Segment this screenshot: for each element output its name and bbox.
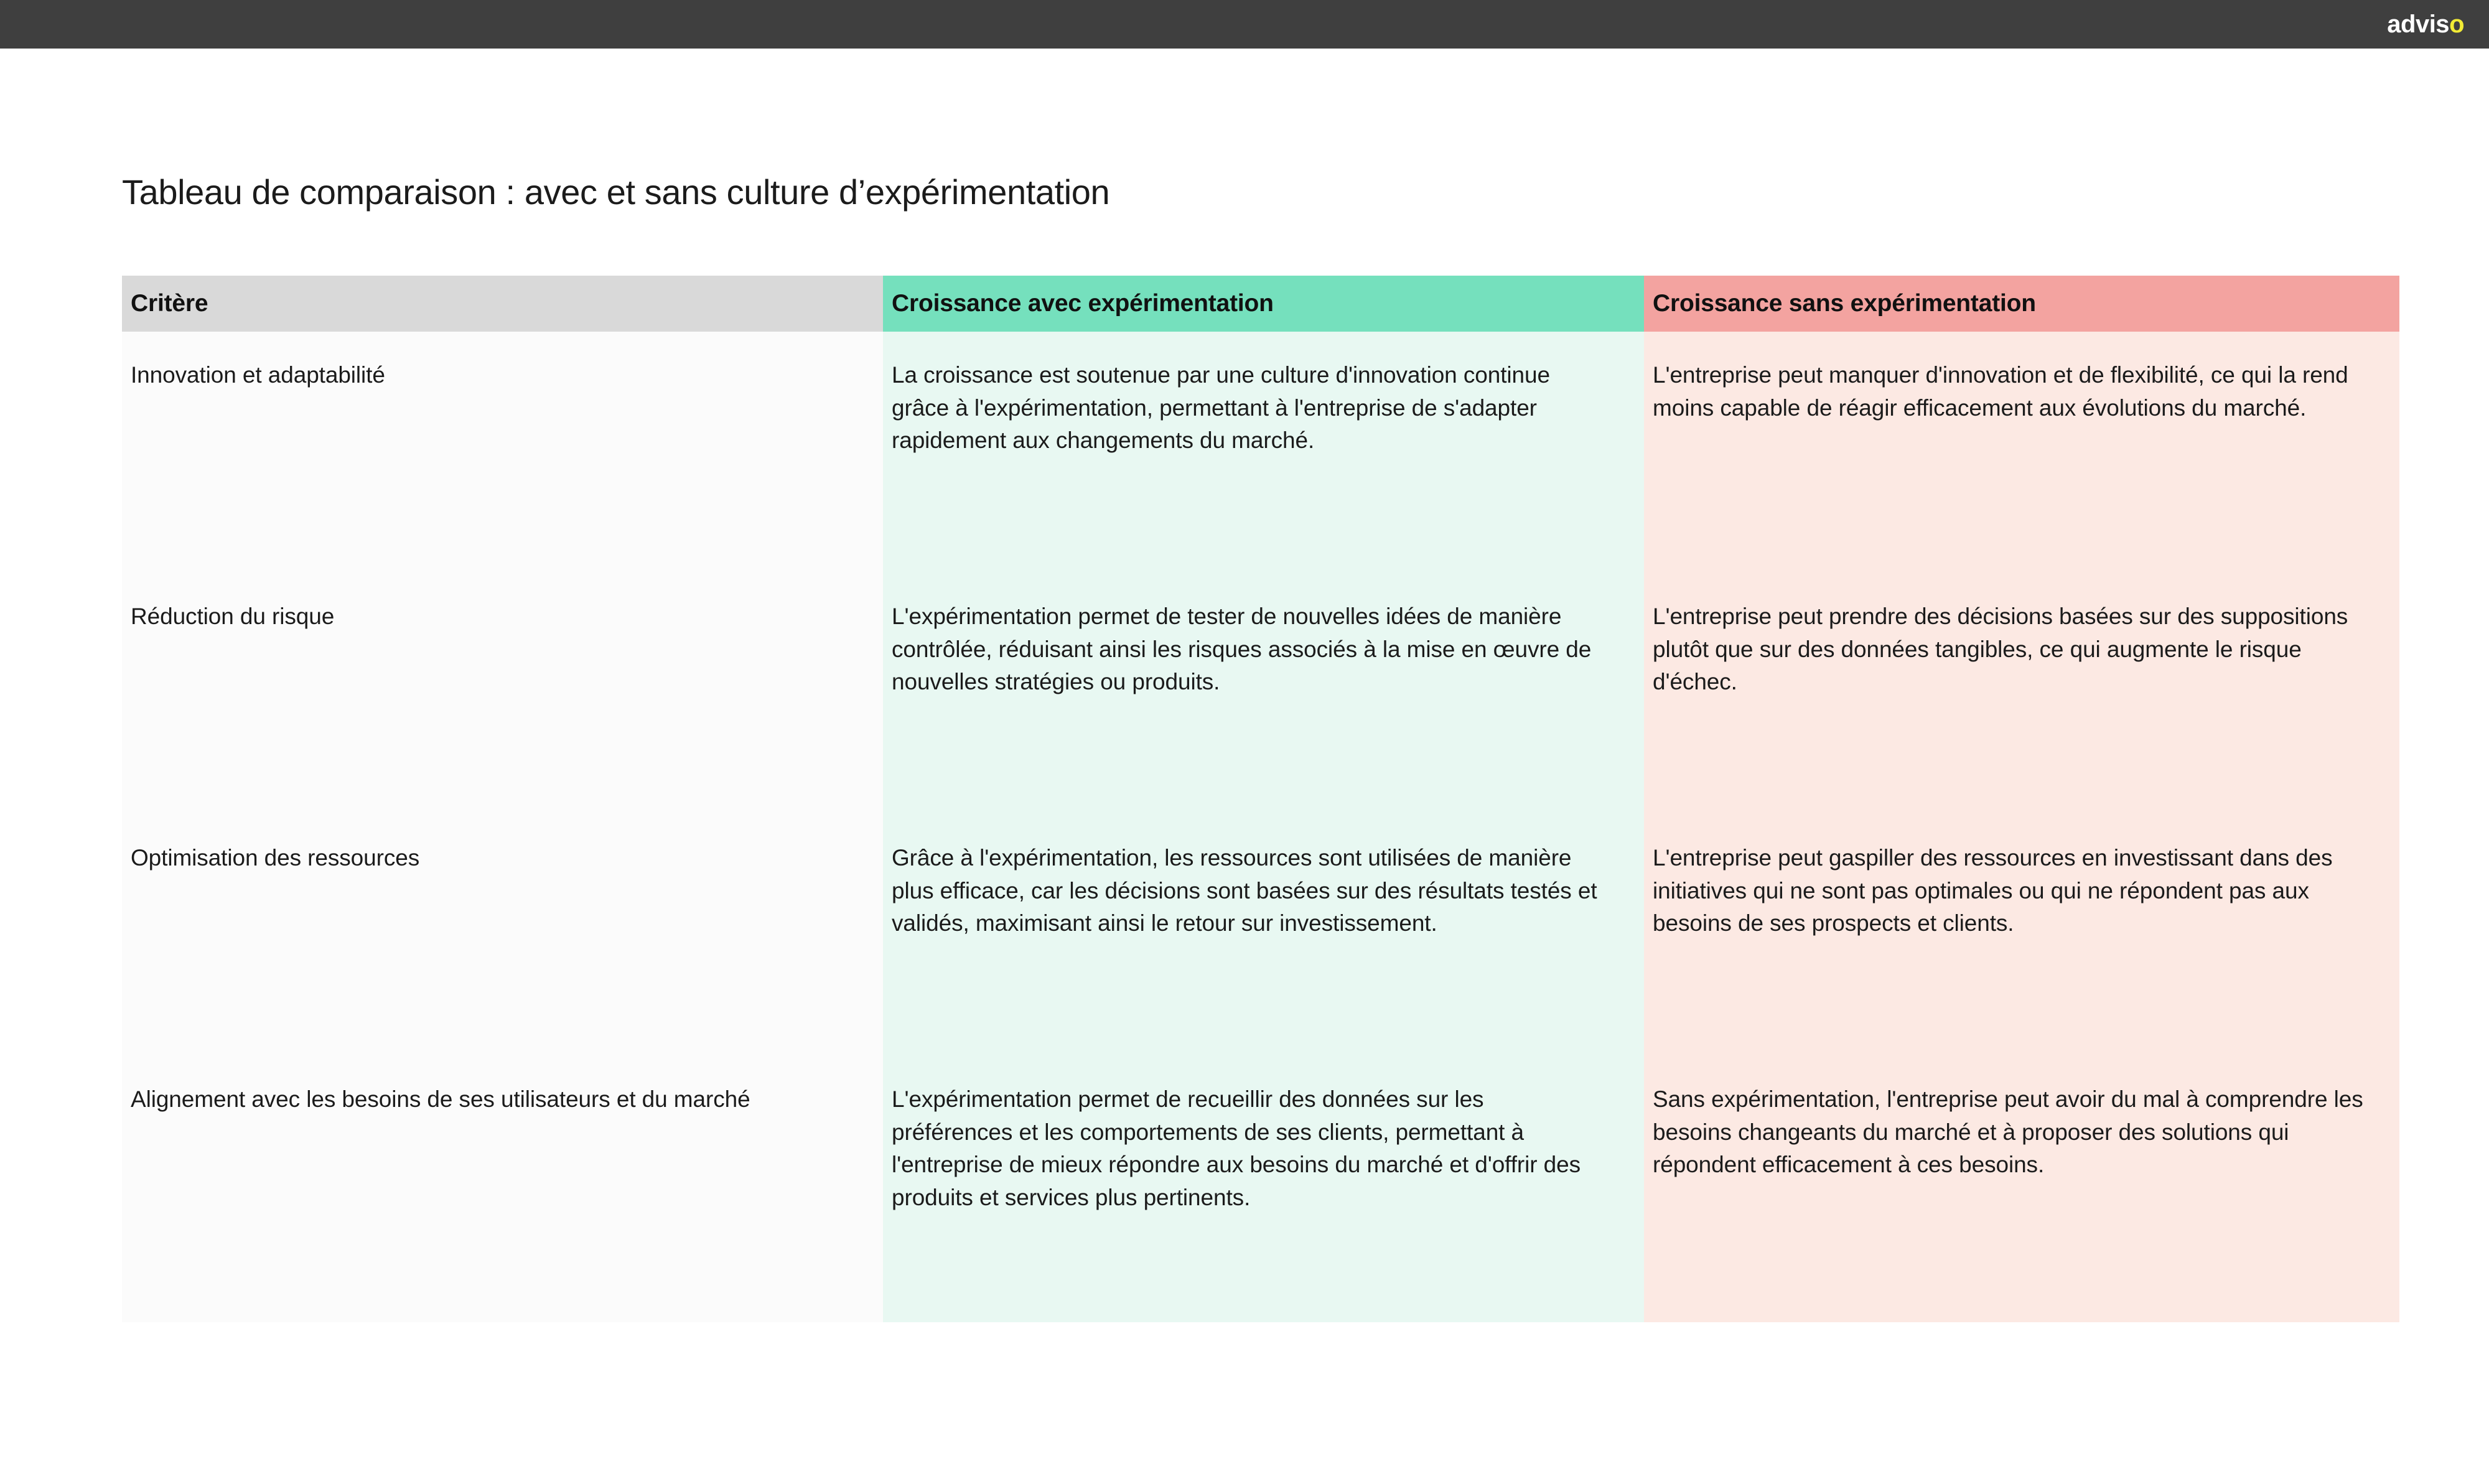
table-row: Optimisation des ressources Grâce à l'ex… bbox=[122, 814, 2399, 1056]
growth-with-text: L'expérimentation permet de recueillir d… bbox=[892, 1083, 1610, 1214]
table-body: Innovation et adaptabilité La croissance… bbox=[122, 332, 2399, 1322]
table-header-row: Critère Croissance avec expérimentation … bbox=[122, 276, 2399, 332]
comparison-table-container: Critère Croissance avec expérimentation … bbox=[122, 276, 2399, 1322]
cell-growth-with: L'expérimentation permet de tester de no… bbox=[883, 573, 1644, 814]
cell-growth-without: L'entreprise peut manquer d'innovation e… bbox=[1644, 332, 2399, 573]
cell-criteria: Alignement avec les besoins de ses utili… bbox=[122, 1056, 883, 1322]
table-row: Réduction du risque L'expérimentation pe… bbox=[122, 573, 2399, 814]
adviso-logo-accent-o: o bbox=[2449, 11, 2464, 38]
table-header: Critère Croissance avec expérimentation … bbox=[122, 276, 2399, 332]
cell-criteria: Innovation et adaptabilité bbox=[122, 332, 883, 573]
cell-criteria: Optimisation des ressources bbox=[122, 814, 883, 1056]
cell-growth-with: La croissance est soutenue par une cultu… bbox=[883, 332, 1644, 573]
comparison-table: Critère Croissance avec expérimentation … bbox=[122, 276, 2399, 1322]
cell-growth-with: L'expérimentation permet de recueillir d… bbox=[883, 1056, 1644, 1322]
criteria-text: Réduction du risque bbox=[131, 600, 849, 633]
column-header-criteria: Critère bbox=[122, 276, 883, 332]
table-row: Innovation et adaptabilité La croissance… bbox=[122, 332, 2399, 573]
cell-growth-without: L'entreprise peut gaspiller des ressourc… bbox=[1644, 814, 2399, 1056]
growth-with-text: La croissance est soutenue par une cultu… bbox=[892, 359, 1610, 457]
growth-without-text: L'entreprise peut prendre des décisions … bbox=[1653, 600, 2366, 699]
criteria-text: Optimisation des ressources bbox=[131, 842, 849, 875]
column-header-growth-with-experimentation: Croissance avec expérimentation bbox=[883, 276, 1644, 332]
column-header-growth-without-experimentation: Croissance sans expérimentation bbox=[1644, 276, 2399, 332]
page-title: Tableau de comparaison : avec et sans cu… bbox=[122, 172, 1109, 212]
criteria-text: Alignement avec les besoins de ses utili… bbox=[131, 1083, 849, 1116]
cell-growth-without: L'entreprise peut prendre des décisions … bbox=[1644, 573, 2399, 814]
growth-without-text: L'entreprise peut manquer d'innovation e… bbox=[1653, 359, 2366, 424]
cell-growth-with: Grâce à l'expérimentation, les ressource… bbox=[883, 814, 1644, 1056]
adviso-logo-text: advis bbox=[2387, 11, 2449, 38]
growth-without-text: L'entreprise peut gaspiller des ressourc… bbox=[1653, 842, 2366, 940]
cell-criteria: Réduction du risque bbox=[122, 573, 883, 814]
growth-with-text: Grâce à l'expérimentation, les ressource… bbox=[892, 842, 1610, 940]
growth-with-text: L'expérimentation permet de tester de no… bbox=[892, 600, 1610, 699]
criteria-text: Innovation et adaptabilité bbox=[131, 359, 849, 392]
growth-without-text: Sans expérimentation, l'entreprise peut … bbox=[1653, 1083, 2366, 1182]
top-bar: adviso bbox=[0, 0, 2489, 49]
table-row: Alignement avec les besoins de ses utili… bbox=[122, 1056, 2399, 1322]
adviso-logo: adviso bbox=[2387, 12, 2464, 37]
cell-growth-without: Sans expérimentation, l'entreprise peut … bbox=[1644, 1056, 2399, 1322]
